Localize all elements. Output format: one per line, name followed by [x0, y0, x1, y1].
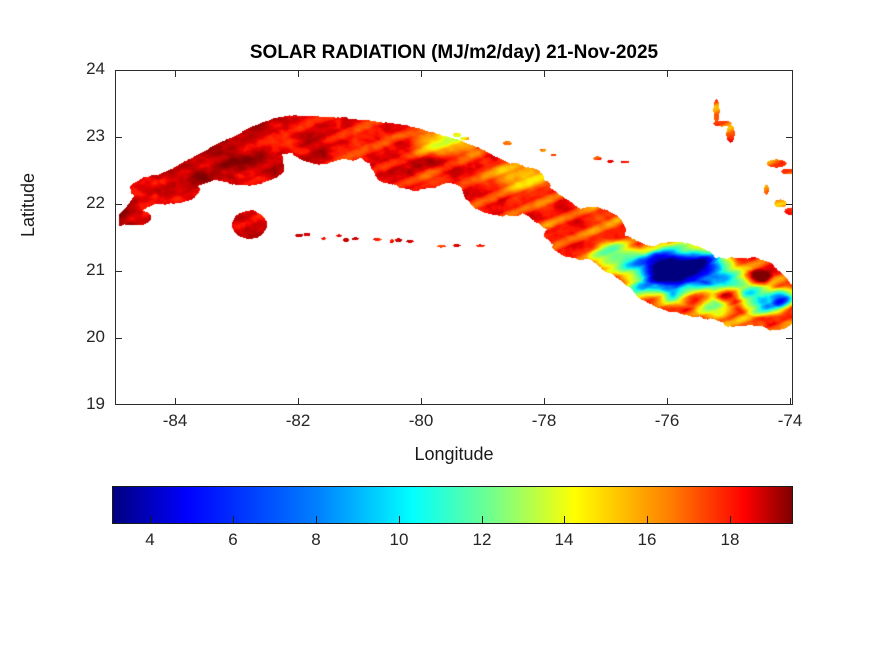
xtick-mark [667, 398, 668, 405]
colorbar-tick-label: 6 [203, 530, 263, 550]
ytick-mark [115, 137, 122, 138]
ytick-mark-right [786, 204, 793, 205]
y-axis-label: Latitude [18, 173, 39, 237]
colorbar [112, 486, 793, 524]
ytick-mark [115, 204, 122, 205]
colorbar-tick-label: 16 [617, 530, 677, 550]
xtick-mark [298, 398, 299, 405]
map-axes [115, 70, 793, 405]
xtick-mark [175, 398, 176, 405]
colorbar-gradient [112, 486, 793, 524]
xtick-mark-top [421, 70, 422, 77]
colorbar-tick [647, 516, 648, 524]
colorbar-tick [730, 516, 731, 524]
colorbar-tick-label: 14 [534, 530, 594, 550]
colorbar-tick-label: 10 [369, 530, 429, 550]
colorbar-tick-label: 18 [700, 530, 760, 550]
xtick-mark-top [544, 70, 545, 77]
xtick-label: -76 [632, 411, 702, 431]
colorbar-tick [482, 516, 483, 524]
xtick-label: -80 [386, 411, 456, 431]
ytick-mark-right [786, 137, 793, 138]
xtick-label: -78 [509, 411, 579, 431]
xtick-mark-top [298, 70, 299, 77]
ytick-mark-right [786, 338, 793, 339]
xtick-mark [421, 398, 422, 405]
xtick-mark [790, 398, 791, 405]
ytick-label: 22 [63, 193, 105, 213]
ytick-label: 19 [63, 394, 105, 414]
ytick-label: 24 [63, 59, 105, 79]
xtick-mark-top [667, 70, 668, 77]
colorbar-tick [316, 516, 317, 524]
ytick-mark-right [786, 271, 793, 272]
solar-radiation-heatmap [116, 71, 793, 405]
ytick-label: 23 [63, 126, 105, 146]
colorbar-tick [564, 516, 565, 524]
colorbar-tick-label: 4 [120, 530, 180, 550]
ytick-mark [115, 338, 122, 339]
xtick-mark-top [175, 70, 176, 77]
xtick-label: -74 [755, 411, 825, 431]
ytick-label: 21 [63, 260, 105, 280]
colorbar-tick [399, 516, 400, 524]
xtick-label: -84 [140, 411, 210, 431]
colorbar-tick-label: 12 [452, 530, 512, 550]
colorbar-tick [233, 516, 234, 524]
ytick-mark [115, 271, 122, 272]
ytick-label: 20 [63, 327, 105, 347]
x-axis-label: Longitude [115, 444, 793, 465]
xtick-label: -82 [263, 411, 333, 431]
colorbar-tick-label: 8 [286, 530, 346, 550]
page-title: SOLAR RADIATION (MJ/m2/day) 21-Nov-2025 [115, 42, 793, 64]
colorbar-tick [150, 516, 151, 524]
xtick-mark [544, 398, 545, 405]
figure-canvas: SOLAR RADIATION (MJ/m2/day) 21-Nov-2025 … [0, 0, 875, 656]
